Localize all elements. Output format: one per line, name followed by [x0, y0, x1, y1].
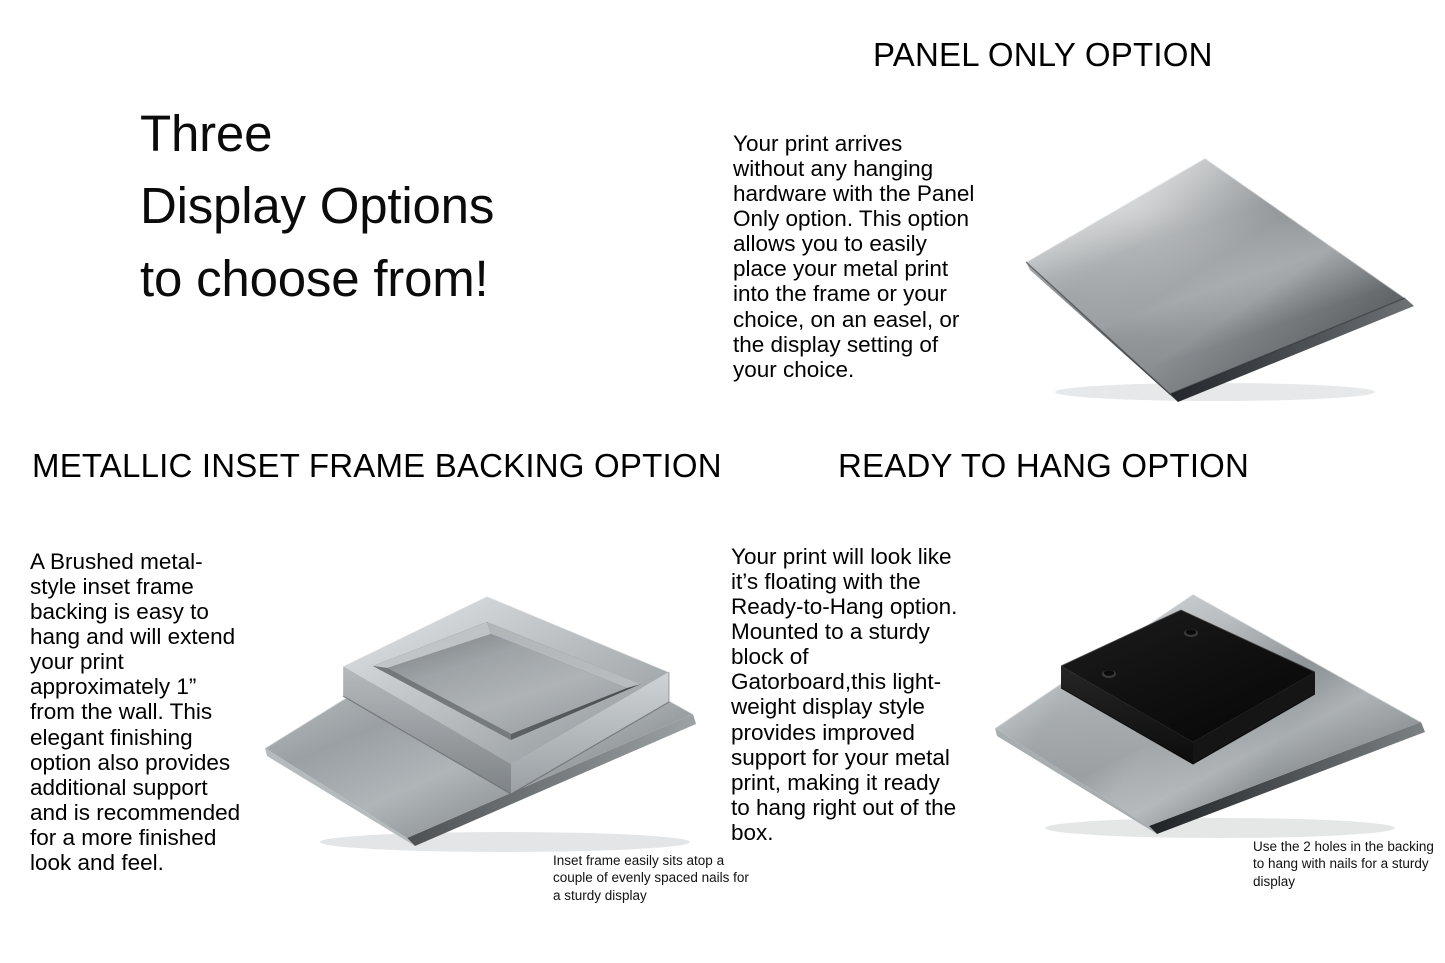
gatorboard-illustration: [985, 588, 1445, 843]
metal-sheet-illustration: [1000, 150, 1440, 410]
section-body-ready-to-hang: Your print will look like it’s floating …: [731, 544, 963, 845]
section-body-metallic-inset-frame: A Brushed metal-style inset frame backin…: [30, 549, 245, 875]
inset-frame-illustration: [255, 596, 755, 861]
caption-inset-frame: Inset frame easily sits atop a couple of…: [553, 852, 753, 904]
section-heading-metallic-inset-frame: METALLIC INSET FRAME BACKING OPTION: [32, 447, 722, 485]
section-heading-panel-only: PANEL ONLY OPTION: [873, 36, 1213, 74]
page-title: Three Display Options to choose from!: [140, 98, 700, 315]
poster-canvas: Three Display Options to choose from! PA…: [0, 0, 1445, 963]
caption-ready-to-hang: Use the 2 holes in the backing to hang w…: [1253, 838, 1443, 890]
section-body-panel-only: Your print arrives without any hanging h…: [733, 131, 977, 382]
section-heading-ready-to-hang: READY TO HANG OPTION: [838, 447, 1249, 485]
